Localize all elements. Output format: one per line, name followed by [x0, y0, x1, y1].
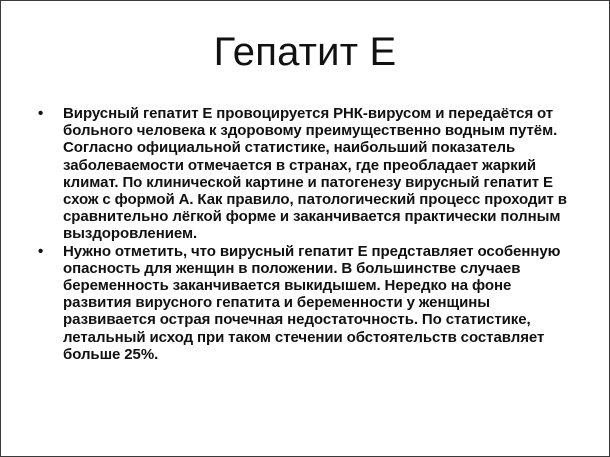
list-item: • Вирусный гепатит E провоцируется РНК-в… [31, 105, 583, 243]
bullet-point-icon: • [31, 243, 63, 260]
list-item-text: Вирусный гепатит E провоцируется РНК-вир… [63, 105, 583, 243]
list-item: • Нужно отметить, что вирусный гепатит E… [31, 243, 583, 363]
page-title: Гепатит E [1, 29, 609, 75]
list-item-text: Нужно отметить, что вирусный гепатит E п… [63, 243, 583, 363]
bullet-point-icon: • [31, 105, 63, 122]
presentation-slide: Гепатит E • Вирусный гепатит E провоциру… [0, 0, 610, 457]
slide-body: • Вирусный гепатит E провоцируется РНК-в… [31, 105, 583, 363]
